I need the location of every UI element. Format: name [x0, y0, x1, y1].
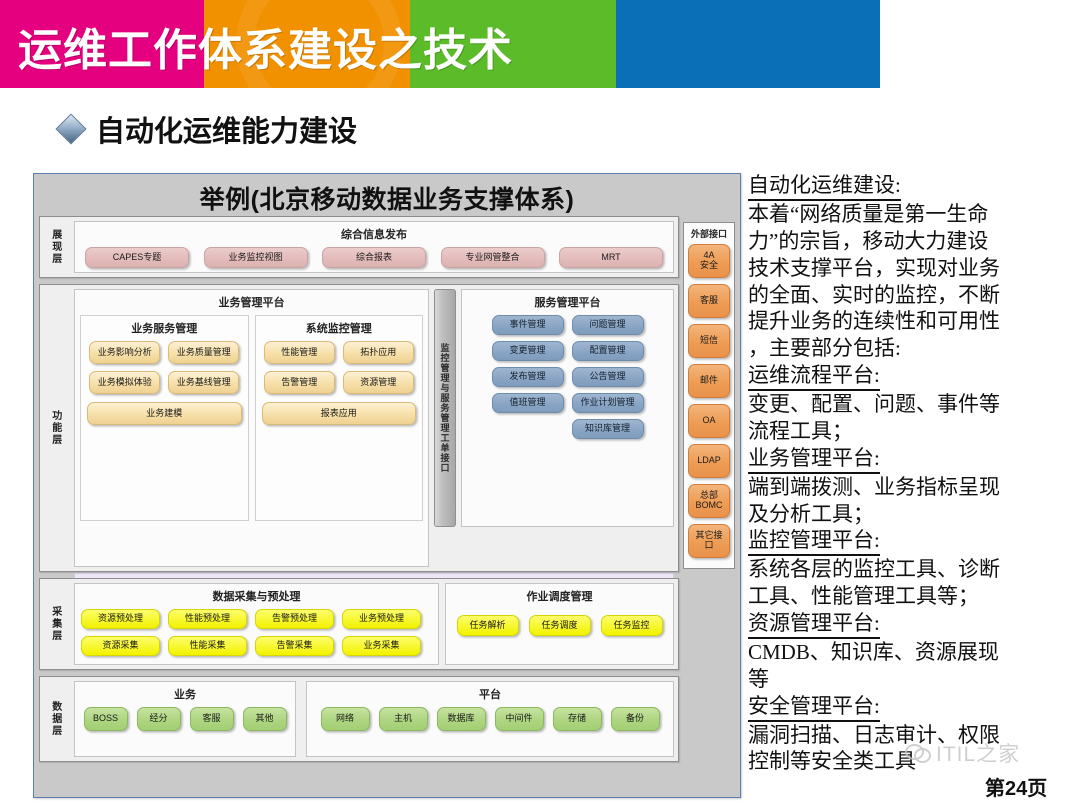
chip-net-mgmt-integration[interactable]: 专业网管整合 — [441, 247, 545, 268]
wechat-bubble-small — [914, 748, 931, 763]
panel-title-biz-mgmt-platform: 业务管理平台 — [80, 294, 423, 310]
biz-service-chip-grid: 业务影响分析 业务质量管理 业务模拟体验 业务基线管理 — [87, 341, 242, 394]
explanation-subheading: 自动化运维建设: — [748, 172, 901, 201]
explanation-line: 安全管理平台: — [748, 693, 1070, 722]
explanation-text: 提升业务的连续性和可用性 — [748, 309, 1000, 333]
explanation-text: ，主要部分包括: — [748, 336, 901, 360]
explanation-subheading: 运维流程平台: — [748, 362, 880, 391]
panel-biz-service-mgmt: 业务服务管理 业务影响分析 业务质量管理 业务模拟体验 业务基线管理 业务建模 — [80, 315, 249, 521]
panel-data-collect: 数据采集与预处理 资源预处理 性能预处理 告警预处理 业务预处理 资源采集 性能… — [74, 583, 439, 665]
panel-title-biz-service-mgmt: 业务服务管理 — [87, 320, 242, 336]
panel-title-sys-monitor-mgmt: 系统监控管理 — [262, 320, 417, 336]
banner-band-blue — [616, 0, 880, 88]
explanation-text: 端到端拨测、业务指标呈现 — [748, 475, 1000, 499]
explanation-panel: 自动化运维建设:本着“网络质量是第一生命力”的宗旨，移动大力建设技术支撑平台，实… — [748, 172, 1070, 775]
panel-title-job-scheduling: 作业调度管理 — [452, 588, 667, 604]
collection-row: 数据采集与预处理 资源预处理 性能预处理 告警预处理 业务预处理 资源采集 性能… — [74, 583, 674, 665]
chip-other-biz[interactable]: 其他 — [243, 707, 287, 731]
section-heading: 自动化运维能力建设 — [96, 108, 357, 150]
chip-biz-collect[interactable]: 业务采集 — [342, 636, 421, 656]
chip-middleware[interactable]: 中间件 — [495, 707, 544, 731]
chip-config-mgmt[interactable]: 配置管理 — [572, 341, 644, 361]
explanation-text: 等 — [748, 667, 769, 691]
explanation-line: 端到端拨测、业务指标呈现 — [748, 474, 1070, 501]
chip-incident-mgmt[interactable]: 事件管理 — [492, 315, 564, 335]
chip-task-parse[interactable]: 任务解析 — [457, 615, 519, 636]
explanation-line: 技术支撑平台，实现对业务 — [748, 255, 1070, 282]
collect-chip-grid: 资源预处理 性能预处理 告警预处理 业务预处理 资源采集 性能采集 告警采集 业… — [81, 609, 432, 656]
explanation-line: 本着“网络质量是第一生命 — [748, 201, 1070, 228]
chip-storage[interactable]: 存储 — [553, 707, 602, 731]
explanation-text: 的全面、实时的监控，不断 — [748, 283, 1000, 307]
diagram-title: 举例(北京移动数据业务支撑体系) — [34, 174, 740, 216]
chip-performance-mgmt[interactable]: 性能管理 — [264, 341, 335, 364]
explanation-line: 运维流程平台: — [748, 362, 1070, 391]
biz-inner-row: 业务服务管理 业务影响分析 业务质量管理 业务模拟体验 业务基线管理 业务建模 — [80, 315, 423, 521]
chip-mrt[interactable]: MRT — [559, 247, 663, 268]
chip-biz-preprocess[interactable]: 业务预处理 — [342, 609, 421, 629]
layer-content-function: 业务管理平台 业务服务管理 业务影响分析 业务质量管理 业务模拟体验 业务基线管… — [70, 285, 678, 571]
explanation-line: 监控管理平台: — [748, 527, 1070, 556]
data-row: 业务 BOSS 经分 客服 其他 平台 网络 主机 数据 — [74, 681, 674, 757]
explanation-line: 工具、性能管理工具等； — [748, 583, 1070, 610]
panel-service-mgmt-platform: 服务管理平台 事件管理 问题管理 变更管理 配置管理 发布管理 公告管理 值班管… — [461, 289, 674, 527]
chip-release-mgmt[interactable]: 发布管理 — [492, 367, 564, 387]
sys-monitor-chip-grid: 性能管理 拓扑应用 告警管理 资源管理 — [262, 341, 417, 394]
chip-network[interactable]: 网络 — [321, 707, 370, 731]
explanation-line: 力”的宗旨，移动大力建设 — [748, 228, 1070, 255]
chip-biz-simulation[interactable]: 业务模拟体验 — [89, 371, 160, 394]
chip-biz-quality-mgmt[interactable]: 业务质量管理 — [168, 341, 239, 364]
chip-customer-service[interactable]: 客服 — [190, 707, 234, 731]
wechat-icon — [905, 742, 931, 764]
panel-data-platform: 平台 网络 主机 数据库 中间件 存储 备份 — [306, 681, 674, 757]
explanation-subheading: 资源管理平台: — [748, 610, 880, 639]
panel-external-interfaces: 外部接口 4A 安全 客服 短信 邮件 OA LDAP 总部 BOMC 其它接 … — [683, 222, 735, 569]
chip-resource-preprocess[interactable]: 资源预处理 — [81, 609, 160, 629]
data-plat-chip-row: 网络 主机 数据库 中间件 存储 备份 — [313, 707, 667, 731]
diamond-bullet-icon — [55, 113, 86, 144]
panel-job-scheduling: 作业调度管理 任务解析 任务调度 任务监控 — [445, 583, 674, 665]
chip-综合报表[interactable]: 综合报表 — [322, 247, 426, 268]
explanation-text: 及分析工具； — [748, 502, 874, 526]
explanation-text: 力”的宗旨，移动大力建设 — [748, 229, 988, 253]
explanation-subheading: 监控管理平台: — [748, 527, 880, 556]
layer-data: 数据层 业务 BOSS 经分 客服 其他 平台 — [39, 676, 679, 762]
explanation-subheading: 安全管理平台: — [748, 693, 880, 722]
chip-duty-mgmt[interactable]: 值班管理 — [492, 393, 564, 413]
layer-label-data: 数据层 — [40, 677, 70, 761]
chip-knowledge-base-mgmt[interactable]: 知识库管理 — [572, 419, 644, 439]
panel-biz-mgmt-platform: 业务管理平台 业务服务管理 业务影响分析 业务质量管理 业务模拟体验 业务基线管… — [74, 289, 429, 567]
presentation-chip-row: CAPES专题 业务监控视图 综合报表 专业网管整合 MRT — [81, 247, 667, 268]
panel-title-data-business: 业务 — [81, 686, 289, 702]
chip-job-plan-mgmt[interactable]: 作业计划管理 — [572, 393, 644, 413]
explanation-text: CMDB、知识库、资源展现 — [748, 640, 999, 664]
layer-label-collection: 采集层 — [40, 579, 70, 669]
chip-ext-ldap[interactable]: LDAP — [688, 444, 730, 478]
chip-report-app[interactable]: 报表应用 — [262, 402, 417, 425]
chip-resource-mgmt[interactable]: 资源管理 — [343, 371, 414, 394]
explanation-line: 等 — [748, 666, 1070, 693]
explanation-text: 系统各层的监控工具、诊断 — [748, 557, 1000, 581]
explanation-line: 资源管理平台: — [748, 610, 1070, 639]
header-banner: 运维工作体系建设之技术 — [0, 0, 880, 88]
layer-collection: 采集层 数据采集与预处理 资源预处理 性能预处理 告警预处理 业务预处理 资源采… — [39, 578, 679, 670]
explanation-line: 及分析工具； — [748, 501, 1070, 528]
service-chip-grid: 事件管理 问题管理 变更管理 配置管理 发布管理 公告管理 值班管理 作业计划管… — [468, 315, 667, 439]
layer-presentation: 展现层 综合信息发布 CAPES专题 业务监控视图 综合报表 专业网管整合 MR… — [39, 216, 679, 278]
chip-biz-modeling[interactable]: 业务建模 — [87, 402, 242, 425]
explanation-line: ，主要部分包括: — [748, 335, 1070, 362]
panel-title-info-publish: 综合信息发布 — [81, 226, 667, 242]
chip-announcement-mgmt[interactable]: 公告管理 — [572, 367, 644, 387]
watermark: ITIL之家 — [905, 738, 1020, 768]
connector-monitor-service-interface: 监控管理与服务管理工单接口 — [434, 289, 456, 527]
chip-topology-app[interactable]: 拓扑应用 — [343, 341, 414, 364]
page-number: 第24页 — [985, 772, 1047, 801]
explanation-line: 流程工具； — [748, 418, 1070, 445]
chip-problem-mgmt[interactable]: 问题管理 — [572, 315, 644, 335]
explanation-line: 变更、配置、问题、事件等 — [748, 391, 1070, 418]
panel-title-service-mgmt-platform: 服务管理平台 — [468, 294, 667, 310]
layer-label-function: 功能层 — [40, 285, 70, 571]
layer-content-collection: 数据采集与预处理 资源预处理 性能预处理 告警预处理 业务预处理 资源采集 性能… — [70, 579, 678, 669]
explanation-text: 变更、配置、问题、事件等 — [748, 392, 1000, 416]
explanation-text: 流程工具； — [748, 419, 853, 443]
panel-sys-monitor-mgmt: 系统监控管理 性能管理 拓扑应用 告警管理 资源管理 报表应用 — [255, 315, 424, 521]
chip-ext-oa[interactable]: OA — [688, 404, 730, 438]
page-title: 运维工作体系建设之技术 — [18, 14, 513, 78]
architecture-diagram: 举例(北京移动数据业务支撑体系) 展现层 综合信息发布 CAPES专题 业务监控… — [33, 173, 741, 798]
chip-backup[interactable]: 备份 — [611, 707, 660, 731]
explanation-text: 技术支撑平台，实现对业务 — [748, 256, 1000, 280]
panel-data-business: 业务 BOSS 经分 客服 其他 — [74, 681, 296, 757]
chip-database[interactable]: 数据库 — [437, 707, 486, 731]
chip-biz-baseline-mgmt[interactable]: 业务基线管理 — [168, 371, 239, 394]
explanation-line: 自动化运维建设: — [748, 172, 1070, 201]
explanation-subheading: 业务管理平台: — [748, 445, 880, 474]
diagram-body: 展现层 综合信息发布 CAPES专题 业务监控视图 综合报表 专业网管整合 MR… — [39, 216, 679, 768]
explanation-line: 业务管理平台: — [748, 445, 1070, 474]
layer-label-presentation: 展现层 — [40, 217, 70, 277]
chip-ext-customer-service[interactable]: 客服 — [688, 284, 730, 318]
chip-task-monitor[interactable]: 任务监控 — [601, 615, 663, 636]
panel-info-publish: 综合信息发布 CAPES专题 业务监控视图 综合报表 专业网管整合 MRT — [74, 221, 674, 273]
function-row: 业务管理平台 业务服务管理 业务影响分析 业务质量管理 业务模拟体验 业务基线管… — [74, 289, 674, 567]
explanation-line: 系统各层的监控工具、诊断 — [748, 556, 1070, 583]
chip-ext-hq-bomc[interactable]: 总部 BOMC — [688, 484, 730, 518]
layer-content-presentation: 综合信息发布 CAPES专题 业务监控视图 综合报表 专业网管整合 MRT — [70, 217, 678, 277]
chip-performance-collect[interactable]: 性能采集 — [168, 636, 247, 656]
panel-title-data-collect: 数据采集与预处理 — [81, 588, 432, 604]
explanation-line: CMDB、知识库、资源展现 — [748, 639, 1070, 666]
subtitle-row: 自动化运维能力建设 — [60, 108, 357, 150]
chip-capes[interactable]: CAPES专题 — [85, 247, 189, 268]
layer-content-data: 业务 BOSS 经分 客服 其他 平台 网络 主机 数据 — [70, 677, 678, 761]
explanation-line: 的全面、实时的监控，不断 — [748, 282, 1070, 309]
panel-title-external-interfaces: 外部接口 — [688, 227, 730, 240]
chip-4a-security[interactable]: 4A 安全 — [688, 244, 730, 278]
explanation-line: 提升业务的连续性和可用性 — [748, 308, 1070, 335]
chip-jingfen[interactable]: 经分 — [137, 707, 181, 731]
panel-title-data-platform: 平台 — [313, 686, 667, 702]
chip-ext-other[interactable]: 其它接 口 — [688, 524, 730, 558]
chip-alarm-preprocess[interactable]: 告警预处理 — [255, 609, 334, 629]
explanation-text: 控制等安全类工具 — [748, 749, 916, 773]
chip-host[interactable]: 主机 — [379, 707, 428, 731]
job-chip-row: 任务解析 任务调度 任务监控 — [452, 609, 667, 636]
layer-function: 功能层 业务管理平台 业务服务管理 业务影响分析 业务质量管理 — [39, 284, 679, 572]
chip-performance-preprocess[interactable]: 性能预处理 — [168, 609, 247, 629]
chip-ext-email[interactable]: 邮件 — [688, 364, 730, 398]
chip-biz-monitor-view[interactable]: 业务监控视图 — [204, 247, 308, 268]
chip-alarm-collect[interactable]: 告警采集 — [255, 636, 334, 656]
chip-ext-sms[interactable]: 短信 — [688, 324, 730, 358]
chip-change-mgmt[interactable]: 变更管理 — [492, 341, 564, 361]
watermark-text: ITIL之家 — [936, 738, 1020, 768]
chip-resource-collect[interactable]: 资源采集 — [81, 636, 160, 656]
chip-task-schedule[interactable]: 任务调度 — [529, 615, 591, 636]
chip-biz-impact-analysis[interactable]: 业务影响分析 — [89, 341, 160, 364]
chip-boss[interactable]: BOSS — [84, 707, 128, 731]
chip-alarm-mgmt[interactable]: 告警管理 — [264, 371, 335, 394]
explanation-text: 工具、性能管理工具等； — [748, 584, 979, 608]
explanation-text: 本着“网络质量是第一生命 — [748, 202, 988, 226]
data-biz-chip-row: BOSS 经分 客服 其他 — [81, 707, 289, 731]
